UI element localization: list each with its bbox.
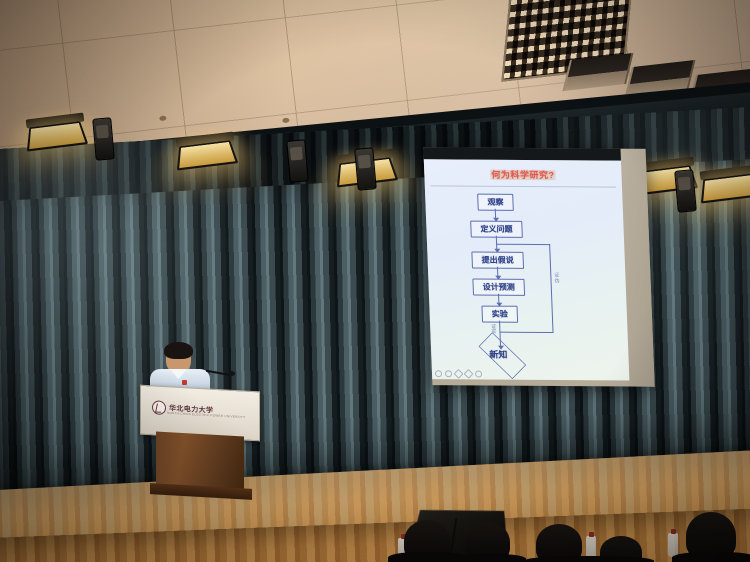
lectern-podium: 华北电力大学 NORTH CHINA ELECTRIC POWER UNIVER… (140, 388, 258, 498)
loop-line-top (496, 244, 550, 245)
audience-shoulders (452, 554, 526, 562)
flow-node-new-knowledge-label: 新知 (489, 348, 508, 361)
water-bottle (668, 533, 678, 557)
more-options-icon[interactable] (475, 370, 482, 377)
audience-shoulders (524, 556, 654, 562)
highlighter-icon[interactable] (454, 369, 464, 379)
spotlight-fixture-icon (354, 147, 377, 190)
speaker-badge (182, 380, 187, 385)
spotlight-fixture-icon (92, 117, 115, 160)
slide-divider (431, 185, 616, 187)
loop-line-bottom (499, 332, 553, 333)
loop-line-right (549, 244, 553, 332)
slide-title-text: 何为科学研究? (490, 170, 555, 180)
university-crest-icon (152, 400, 166, 415)
microphone-icon (228, 371, 235, 376)
slideshow-menu-icon[interactable] (435, 370, 442, 377)
spotlight-fixture-icon (674, 169, 697, 212)
audience-shoulders (672, 552, 750, 562)
spotlight-fixture-icon (286, 139, 309, 182)
slideshow-toolbar[interactable] (435, 370, 482, 377)
slide-title: 何为科学研究? (424, 167, 622, 181)
presentation-slide[interactable]: 何为科学研究? 观察 定义问题 提出假说 设计预测 实验 (424, 159, 630, 380)
projection-screen: 何为科学研究? 观察 定义问题 提出假说 设计预测 实验 (423, 147, 654, 386)
loop-label: 证伪 (553, 272, 560, 284)
pointer-icon[interactable] (464, 369, 474, 379)
pen-icon[interactable] (445, 370, 452, 377)
auditorium-photo: 何为科学研究? 观察 定义问题 提出假说 设计预测 实验 (0, 0, 750, 562)
research-flowchart: 观察 定义问题 提出假说 设计预测 实验 证伪 (425, 189, 629, 380)
speaker-hair (164, 342, 193, 359)
